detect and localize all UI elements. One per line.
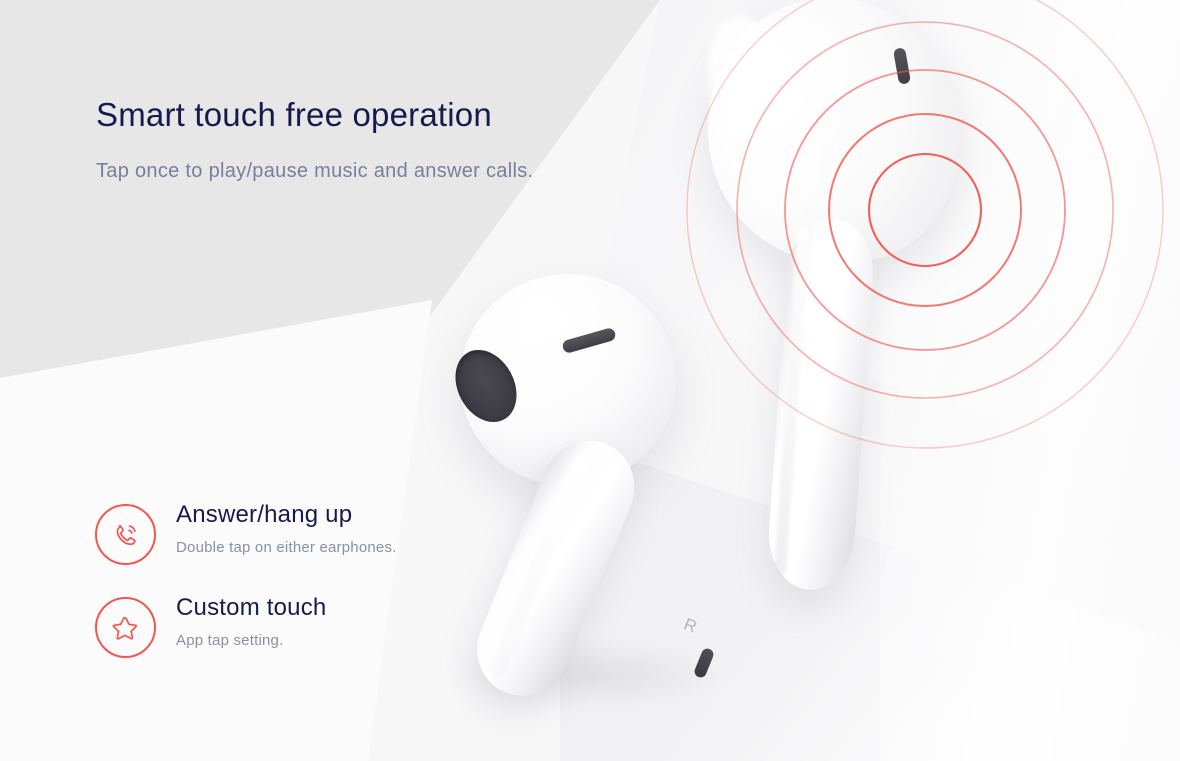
feature-item-custom-touch: Custom touch App tap setting. [95,593,575,658]
page-title: Smart touch free operation [96,93,492,137]
feature-description: App tap setting. [176,631,326,651]
feature-title: Answer/hang up [176,500,397,530]
page-subtitle: Tap once to play/pause music and answer … [96,157,533,185]
feature-text-block: Answer/hang up Double tap on either earp… [176,500,397,558]
phone-call-icon [95,504,156,565]
feature-item-answer-hang-up: Answer/hang up Double tap on either earp… [95,500,575,565]
earbud-front-charging-contact [693,647,715,679]
feature-title: Custom touch [176,593,326,623]
promo-banner: R Smart touch free operation Tap once to… [0,0,1180,761]
earbud-right-channel-label: R [681,614,700,637]
feature-list: Answer/hang up Double tap on either earp… [95,500,575,686]
star-icon [95,597,156,658]
feature-text-block: Custom touch App tap setting. [176,593,326,651]
feature-description: Double tap on either earphones. [176,538,397,558]
